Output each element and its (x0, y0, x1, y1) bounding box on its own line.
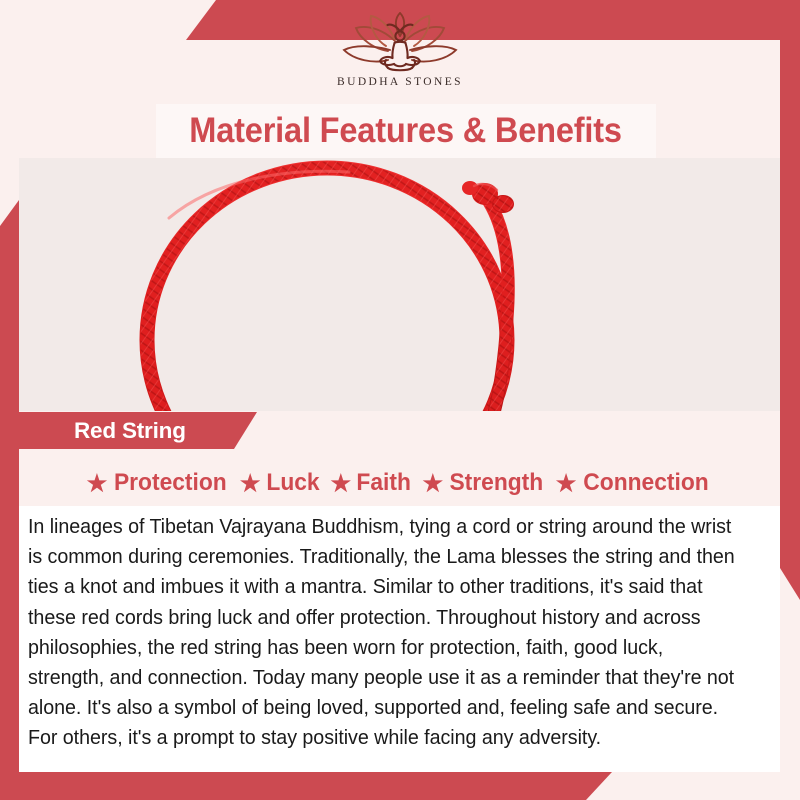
description-body: In lineages of Tibetan Vajrayana Buddhis… (28, 512, 738, 754)
product-label-ribbon: Red String (19, 412, 257, 449)
product-label: Red String (74, 418, 186, 444)
benefits-row: ★ Protection ★ Luck ★ Faith ★ Strength ★… (19, 462, 780, 504)
star-icon: ★ (556, 472, 577, 495)
decorative-bottom-band (0, 772, 800, 800)
page-title-band: Material Features & Benefits (156, 104, 656, 158)
brand-logo: BUDDHA STONES (0, 12, 800, 88)
benefit-label: Connection (584, 469, 709, 497)
benefit-item-4: ★ Connection (556, 469, 713, 497)
star-icon: ★ (422, 472, 443, 495)
benefit-label: Protection (114, 469, 227, 497)
benefit-item-0: ★ Protection (87, 469, 230, 497)
benefit-label: Strength (450, 469, 544, 497)
benefit-label: Luck (266, 469, 319, 497)
header: BUDDHA STONES (0, 0, 800, 103)
benefit-label: Faith (357, 469, 411, 497)
lotus-meditation-icon (338, 12, 462, 74)
poster-root: BUDDHA STONES Material Features & Benefi… (0, 0, 800, 800)
hero-panel (19, 158, 780, 411)
benefit-item-1: ★ Luck (240, 469, 321, 497)
red-string-bracelet-image (19, 158, 780, 411)
description-panel: In lineages of Tibetan Vajrayana Buddhis… (19, 506, 780, 772)
star-icon: ★ (240, 472, 261, 495)
benefit-item-3: ★ Strength (422, 469, 545, 497)
star-icon: ★ (331, 472, 352, 495)
brand-name: BUDDHA STONES (337, 76, 463, 88)
benefit-item-2: ★ Faith (331, 469, 413, 497)
decorative-left-strip (0, 0, 19, 800)
star-icon: ★ (87, 472, 108, 495)
page-title: Material Features & Benefits (190, 111, 623, 151)
